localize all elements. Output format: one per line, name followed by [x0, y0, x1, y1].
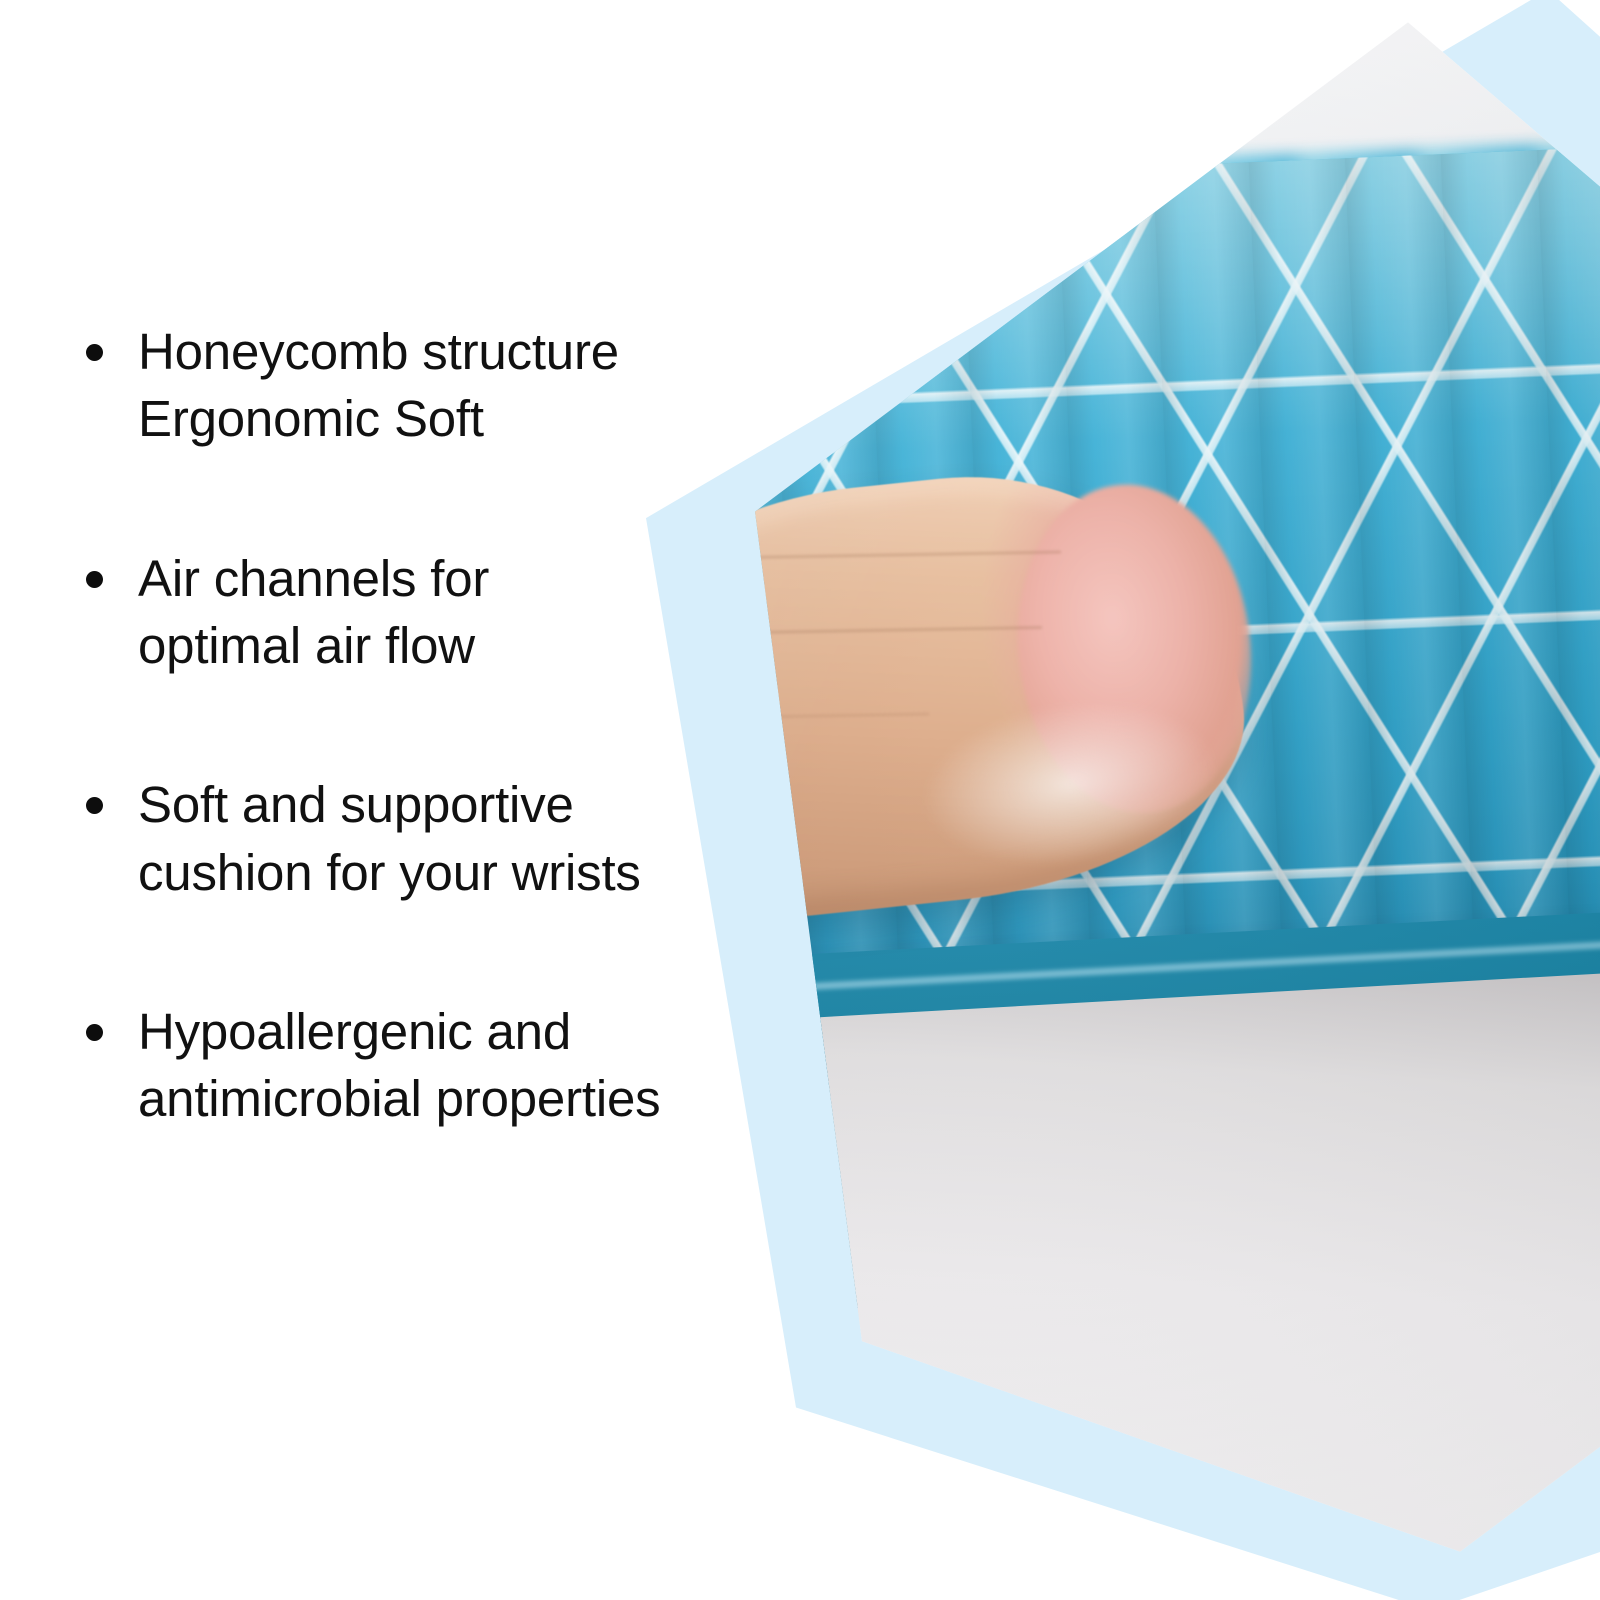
bullet-dot-icon [86, 1024, 103, 1041]
feature-text-air-channels: Air channels for optimal air flow [138, 545, 489, 680]
product-feature-panel: Honeycomb structure Ergonomic Soft Air c… [0, 0, 1600, 1600]
feature-text-soft-supportive: Soft and supportive cushion for your wri… [138, 771, 641, 906]
bullet-dot-icon [86, 797, 103, 814]
feature-text-honeycomb-structure: Honeycomb structure Ergonomic Soft [138, 318, 619, 453]
product-photo-frame [620, 0, 1600, 1600]
bullet-dot-icon [86, 571, 103, 588]
feature-text-hypoallergenic: Hypoallergenic and antimicrobial propert… [138, 998, 660, 1133]
bullet-dot-icon [86, 344, 103, 361]
